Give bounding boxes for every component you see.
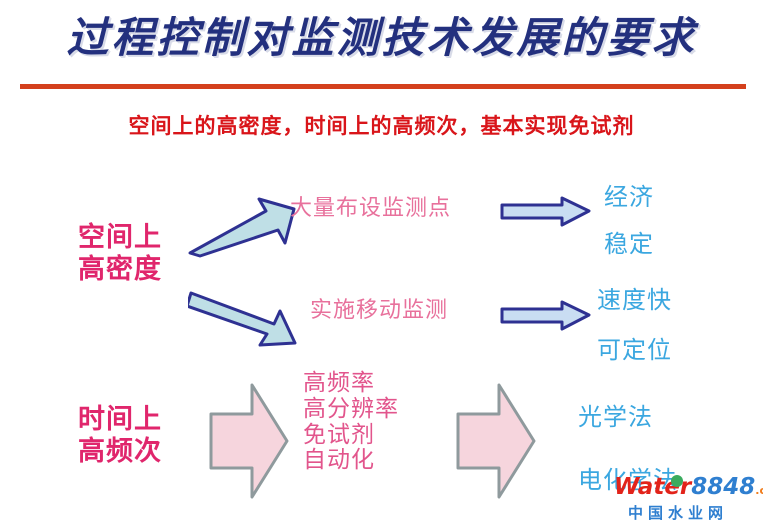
output-label-stable: 稳定 [604, 230, 654, 258]
subtitle-text: 空间上的高密度，时间上的高频次，基本实现免试剂 [0, 110, 763, 140]
source-label-temporal-line2: 高频次 [78, 436, 162, 468]
watermark-brand-line: Water8848.com [614, 476, 763, 499]
source-label-spatial: 空间上 高密度 [78, 222, 162, 286]
right-arrow-top [500, 196, 592, 232]
middle-label-high-resolution: 高分辨率 [303, 397, 399, 423]
pink-block-arrow-right [455, 382, 537, 504]
diagonal-down-arrow [188, 287, 300, 353]
source-label-temporal-line1: 时间上 [78, 404, 162, 436]
middle-label-reagent-free: 免试剂 [303, 423, 399, 449]
pink-block-arrow-left [208, 382, 290, 504]
watermark-tld: .com [755, 484, 763, 497]
source-label-temporal: 时间上 高频次 [78, 404, 162, 468]
middle-label-automation: 自动化 [303, 448, 399, 474]
source-label-spatial-line2: 高密度 [78, 254, 162, 286]
watermark-number: 8848 [691, 474, 755, 500]
output-label-fast-speed: 速度快 [597, 286, 672, 314]
diagonal-up-arrow [188, 196, 298, 262]
source-label-spatial-line1: 空间上 [78, 222, 162, 254]
slide-canvas: 过程控制对监测技术发展的要求 空间上的高密度，时间上的高频次，基本实现免试剂 空… [0, 0, 763, 526]
watermark: Water8848.com 中国水业网 [614, 476, 759, 522]
watermark-dot-icon [671, 475, 683, 487]
middle-label-mobile-monitoring: 实施移动监测 [310, 298, 448, 324]
title-divider-rule [20, 84, 746, 89]
output-label-positionable: 可定位 [597, 336, 672, 364]
output-label-optical-method: 光学法 [578, 403, 653, 431]
output-label-economical: 经济 [604, 183, 654, 211]
middle-label-high-frequency: 高频率 [303, 371, 399, 397]
right-arrow-bottom [500, 300, 592, 336]
watermark-chinese-name: 中国水业网 [628, 502, 728, 523]
page-title: 过程控制对监测技术发展的要求 [0, 4, 763, 65]
middle-label-temporal-requirements: 高频率 高分辨率 免试剂 自动化 [303, 371, 399, 474]
middle-label-many-monitoring-points: 大量布设监测点 [290, 196, 451, 222]
